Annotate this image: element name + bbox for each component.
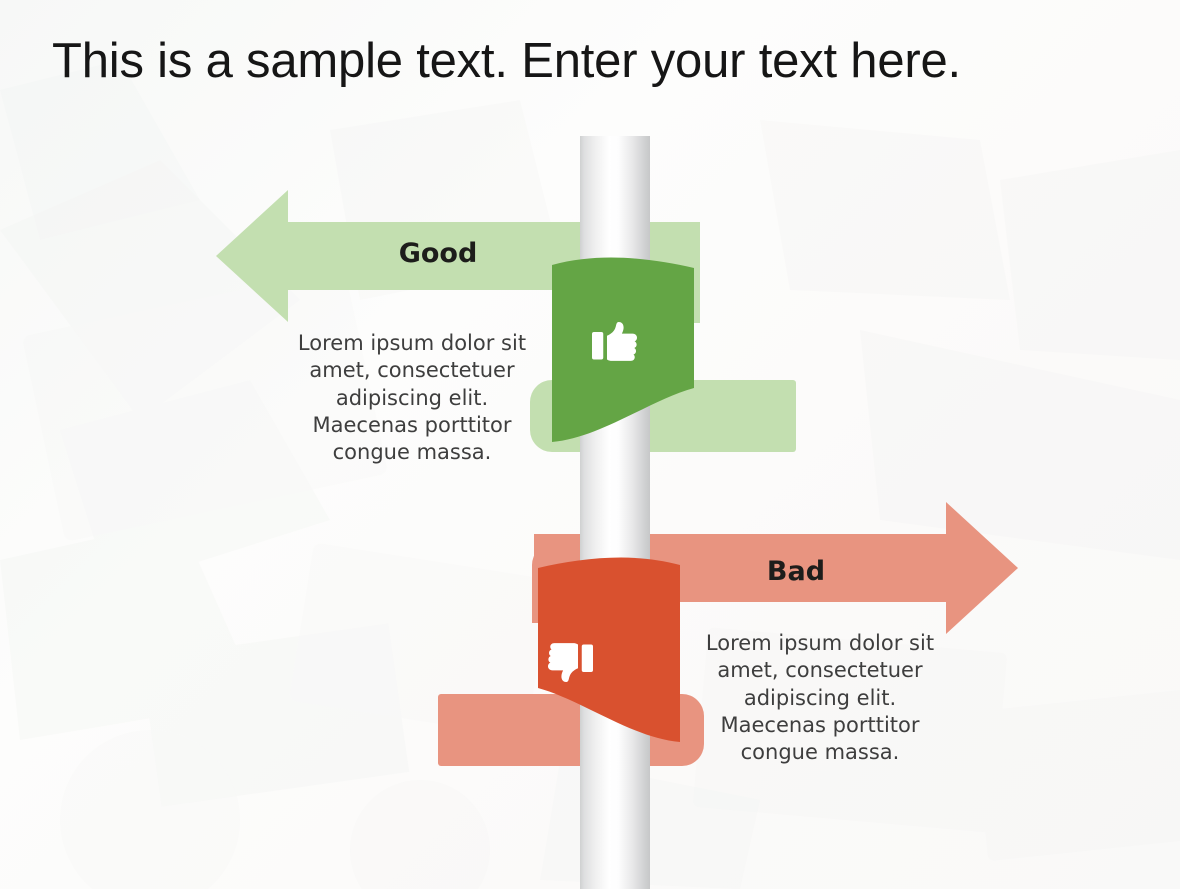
signpost-front-shapes xyxy=(0,0,1180,889)
slide-canvas: This is a sample text. Enter your text h… xyxy=(0,0,1180,889)
good-ribbon xyxy=(552,258,694,442)
bad-ribbon xyxy=(538,558,680,742)
